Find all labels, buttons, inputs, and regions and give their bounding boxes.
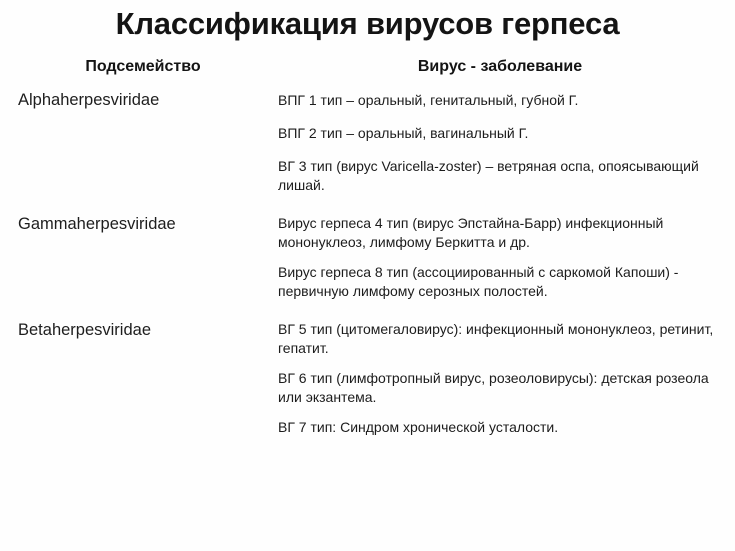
subfamily-name: Betaherpesviridae bbox=[18, 320, 268, 340]
virus-entry: ВПГ 1 тип – оральный, генитальный, губно… bbox=[278, 91, 722, 110]
virus-entry: ВГ 3 тип (вирус Varicella-zoster) – ветр… bbox=[278, 157, 722, 195]
virus-entry-list: ВПГ 1 тип – оральный, генитальный, губно… bbox=[278, 88, 722, 195]
table-row: Alphaherpesviridae ВПГ 1 тип – оральный,… bbox=[0, 88, 735, 195]
page-title: Классификация вирусов герпеса bbox=[0, 5, 735, 43]
virus-entry: ВГ 5 тип (цитомегаловирус): инфекционный… bbox=[278, 320, 722, 358]
classification-table: Alphaherpesviridae ВПГ 1 тип – оральный,… bbox=[0, 88, 735, 437]
virus-entry: Вирус герпеса 4 тип (вирус Эпстайна-Барр… bbox=[278, 214, 722, 252]
table-row: Betaherpesviridae ВГ 5 тип (цитомегалови… bbox=[0, 320, 735, 437]
virus-entry: ВГ 6 тип (лимфотропный вирус, розеоловир… bbox=[278, 369, 722, 407]
column-header-subfamily: Подсемейство bbox=[18, 57, 268, 77]
column-header-virus: Вирус - заболевание bbox=[278, 57, 722, 77]
table-row: Gammaherpesviridae Вирус герпеса 4 тип (… bbox=[0, 214, 735, 301]
subfamily-name: Gammaherpesviridae bbox=[18, 214, 268, 234]
virus-entry: ВГ 7 тип: Синдром хронической усталости. bbox=[278, 418, 722, 437]
virus-entry: ВПГ 2 тип – оральный, вагинальный Г. bbox=[278, 124, 722, 143]
virus-entry-list: ВГ 5 тип (цитомегаловирус): инфекционный… bbox=[278, 320, 722, 437]
virus-entry-list: Вирус герпеса 4 тип (вирус Эпстайна-Барр… bbox=[278, 214, 722, 301]
virus-entry: Вирус герпеса 8 тип (ассоциированный с с… bbox=[278, 263, 722, 301]
column-headers: Подсемейство Вирус - заболевание bbox=[0, 57, 735, 79]
subfamily-name: Alphaherpesviridae bbox=[18, 90, 268, 110]
slide-root: Классификация вирусов герпеса Подсемейст… bbox=[0, 0, 735, 551]
